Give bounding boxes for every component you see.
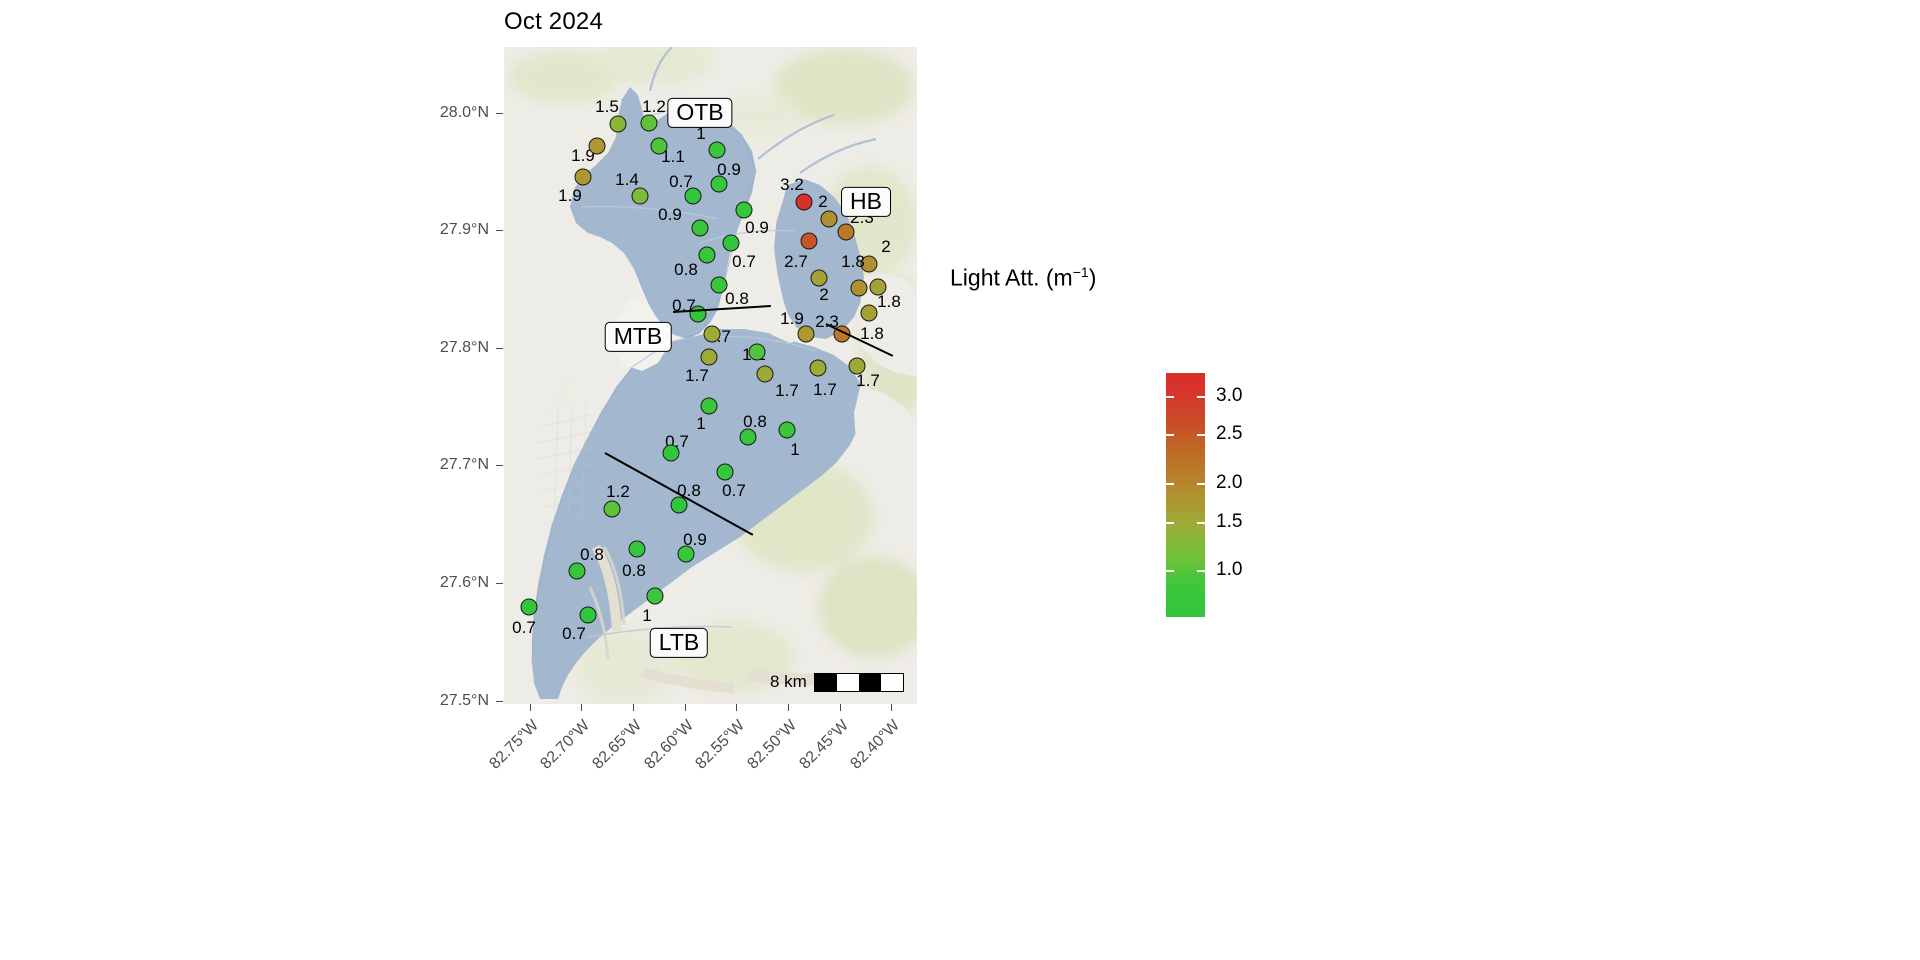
legend-title-main: Light Att. (m <box>950 265 1073 291</box>
data-point[interactable] <box>838 224 855 241</box>
data-point-label: 0.7 <box>512 618 536 638</box>
y-axis-tick-mark <box>496 348 503 349</box>
colorbar-tick-mark <box>1166 570 1174 572</box>
segment-label-hb: HB <box>841 187 891 217</box>
scale-bar-segments <box>814 673 904 692</box>
y-axis-tick-label: 27.6°N <box>440 574 489 592</box>
data-point-label: 0.7 <box>732 252 756 272</box>
data-point[interactable] <box>849 358 866 375</box>
data-point[interactable] <box>723 235 740 252</box>
colorbar-tick-mark <box>1166 522 1174 524</box>
data-point-label: 0.8 <box>580 545 604 565</box>
data-point[interactable] <box>711 176 728 193</box>
x-axis-tick-mark <box>581 704 582 711</box>
y-axis-tick-label: 28.0°N <box>440 104 489 122</box>
data-point[interactable] <box>569 563 586 580</box>
scale-bar-label: 8 km <box>770 672 807 692</box>
colorbar-tick-mark <box>1166 483 1174 485</box>
segment-label-mtb: MTB <box>605 322 672 352</box>
data-point-label: 1.7 <box>685 366 709 386</box>
data-point[interactable] <box>870 279 887 296</box>
data-point-label: 1 <box>696 414 705 434</box>
legend-title-tail: ) <box>1089 265 1097 291</box>
data-point-label: 1.7 <box>813 380 837 400</box>
y-axis-tick-mark <box>496 701 503 702</box>
data-point-label: 1.5 <box>595 97 619 117</box>
data-point[interactable] <box>821 211 838 228</box>
data-point[interactable] <box>575 169 592 186</box>
y-axis-tick-mark <box>496 465 503 466</box>
data-point[interactable] <box>641 115 658 132</box>
y-axis-tick-mark <box>496 113 503 114</box>
data-point-label: 1.7 <box>775 381 799 401</box>
data-point[interactable] <box>610 116 627 133</box>
scale-bar-segment <box>837 674 859 691</box>
data-point[interactable] <box>801 233 818 250</box>
data-point[interactable] <box>851 280 868 297</box>
colorbar-tick-label: 2.0 <box>1216 472 1242 494</box>
data-point-label: 0.7 <box>722 481 746 501</box>
data-point[interactable] <box>678 546 695 563</box>
data-point[interactable] <box>704 326 721 343</box>
data-point[interactable] <box>699 247 716 264</box>
colorbar-tick-label: 1.0 <box>1216 559 1242 581</box>
data-point[interactable] <box>736 202 753 219</box>
data-point-label: 0.9 <box>658 205 682 225</box>
y-axis-tick-label: 27.8°N <box>440 339 489 357</box>
figure-root: Oct 2024 <box>0 0 1920 960</box>
data-point[interactable] <box>749 344 766 361</box>
data-point-label: 3.2 <box>780 175 804 195</box>
data-point-label: 1.4 <box>615 170 639 190</box>
data-point-label: 2 <box>819 285 828 305</box>
scale-bar-segment <box>815 674 837 691</box>
data-point[interactable] <box>685 188 702 205</box>
colorbar-tick-mark <box>1197 434 1205 436</box>
data-point[interactable] <box>740 429 757 446</box>
data-point[interactable] <box>647 588 664 605</box>
data-point[interactable] <box>779 422 796 439</box>
data-point-label: 2.7 <box>784 252 808 272</box>
data-point[interactable] <box>701 398 718 415</box>
data-point[interactable] <box>580 607 597 624</box>
data-point-label: 2 <box>881 237 890 257</box>
data-point-label: 1.9 <box>558 186 582 206</box>
colorbar-tick-mark <box>1197 570 1205 572</box>
data-point[interactable] <box>692 220 709 237</box>
data-point[interactable] <box>810 360 827 377</box>
segment-label-ltb: LTB <box>650 628 708 658</box>
data-point[interactable] <box>798 326 815 343</box>
data-point-label: 0.9 <box>745 218 769 238</box>
x-axis-tick-mark <box>840 704 841 711</box>
data-point[interactable] <box>651 138 668 155</box>
x-axis-tick-mark <box>788 704 789 711</box>
x-axis-tick-mark <box>633 704 634 711</box>
x-axis-tick-mark <box>685 704 686 711</box>
data-point-label: 1.2 <box>606 482 630 502</box>
colorbar-tick-label: 2.5 <box>1216 423 1242 445</box>
colorbar-tick-mark <box>1166 434 1174 436</box>
scale-bar-segment <box>859 674 881 691</box>
y-axis-tick-mark <box>496 583 503 584</box>
x-axis-tick-mark <box>736 704 737 711</box>
x-axis-tick-mark <box>891 704 892 711</box>
x-axis-tick-mark <box>530 704 531 711</box>
data-point[interactable] <box>709 142 726 159</box>
colorbar-tick-label: 3.0 <box>1216 385 1242 407</box>
data-point[interactable] <box>811 270 828 287</box>
data-point[interactable] <box>671 497 688 514</box>
data-point-label: 1 <box>642 606 651 626</box>
colorbar-gradient <box>1166 373 1205 617</box>
scale-bar: 8 km <box>770 672 904 692</box>
segment-label-otb: OTB <box>667 98 732 128</box>
y-axis-tick-mark <box>496 230 503 231</box>
data-point[interactable] <box>717 464 734 481</box>
colorbar-tick-mark <box>1197 396 1205 398</box>
data-point[interactable] <box>521 599 538 616</box>
y-axis-tick-label: 27.7°N <box>440 456 489 474</box>
legend-title-exponent: −1 <box>1073 264 1089 280</box>
data-point[interactable] <box>632 188 649 205</box>
y-axis-tick-label: 27.5°N <box>440 692 489 710</box>
colorbar-tick-label: 1.5 <box>1216 511 1242 533</box>
data-point[interactable] <box>629 541 646 558</box>
data-point[interactable] <box>796 194 813 211</box>
page-title: Oct 2024 <box>504 8 603 36</box>
legend-colorbar <box>1166 373 1205 617</box>
colorbar-tick-mark <box>1197 483 1205 485</box>
data-point[interactable] <box>861 305 878 322</box>
legend-title: Light Att. (m−1) <box>950 264 1096 292</box>
data-point-label: 1.8 <box>841 252 865 272</box>
data-point-label: 1 <box>790 440 799 460</box>
colorbar-tick-mark <box>1197 522 1205 524</box>
data-point[interactable] <box>604 501 621 518</box>
data-point[interactable] <box>701 349 718 366</box>
data-point[interactable] <box>711 277 728 294</box>
scale-bar-segment <box>881 674 903 691</box>
data-point-label: 0.7 <box>562 624 586 644</box>
data-point[interactable] <box>589 138 606 155</box>
y-axis-tick-label: 27.9°N <box>440 221 489 239</box>
data-point-label: 0.8 <box>622 561 646 581</box>
data-point[interactable] <box>663 445 680 462</box>
data-point-label: 2 <box>818 192 827 212</box>
data-point-label: 0.8 <box>674 260 698 280</box>
data-point[interactable] <box>757 366 774 383</box>
colorbar-tick-mark <box>1166 396 1174 398</box>
